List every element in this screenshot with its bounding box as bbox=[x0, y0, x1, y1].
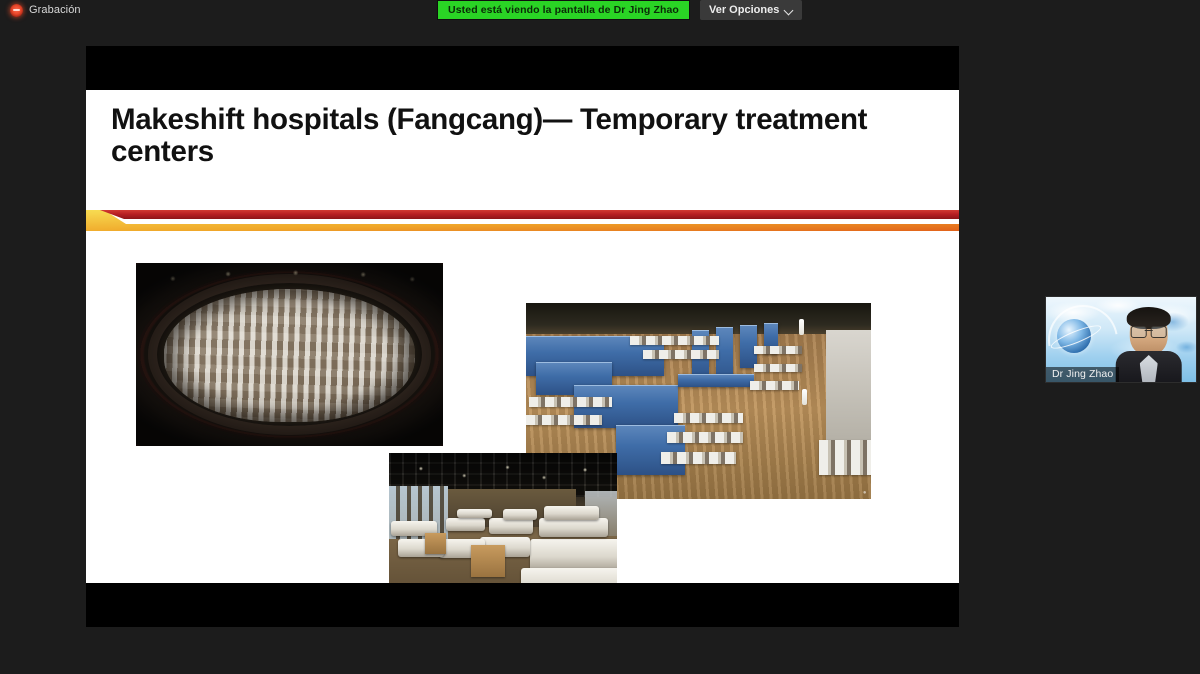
hall-bed bbox=[489, 518, 532, 534]
hall-bed bbox=[446, 518, 485, 531]
hall-image bbox=[389, 453, 617, 583]
medical-worker bbox=[799, 319, 804, 335]
hall-bed bbox=[457, 509, 491, 518]
medical-worker bbox=[802, 389, 807, 405]
view-options-label: Ver Opciones bbox=[709, 4, 779, 16]
zoom-top-bar: Grabación Usted está viendo la pantalla … bbox=[0, 0, 1200, 20]
hall-bed bbox=[530, 539, 617, 572]
bed-row bbox=[667, 432, 743, 443]
supply-pile bbox=[819, 440, 871, 475]
hall-bed bbox=[544, 506, 599, 519]
photo-stadium-hospital bbox=[136, 263, 443, 446]
bed-row bbox=[630, 336, 720, 345]
screen-share-banner: Usted está viendo la pantalla de Dr Jing… bbox=[437, 0, 690, 20]
bed-row bbox=[661, 452, 737, 464]
hall-bed bbox=[521, 568, 617, 583]
stadium-image bbox=[136, 263, 443, 446]
hall-desk bbox=[471, 545, 505, 578]
bed-row bbox=[674, 413, 743, 423]
slide-title: Makeshift hospitals (Fangcang)— Temporar… bbox=[111, 104, 901, 168]
glasses-bridge bbox=[1145, 330, 1153, 331]
image-watermark: ● bbox=[863, 490, 867, 496]
recording-label: Grabación bbox=[29, 4, 81, 16]
bed-row bbox=[750, 381, 798, 390]
bed-row bbox=[526, 415, 602, 426]
bed-row bbox=[754, 346, 802, 354]
hall-bed bbox=[539, 518, 607, 537]
slide-accent-bar bbox=[86, 208, 959, 232]
bed-row bbox=[754, 364, 802, 372]
bed-row bbox=[643, 350, 719, 359]
screen-share-banner-label: Usted está viendo la pantalla de Dr Jing… bbox=[448, 4, 679, 16]
participant-name-label: Dr Jing Zhao bbox=[1046, 367, 1119, 382]
hall-desk bbox=[425, 533, 446, 554]
globe-icon bbox=[1057, 319, 1091, 353]
view-options-button[interactable]: Ver Opciones bbox=[700, 0, 802, 20]
recording-icon bbox=[10, 4, 23, 17]
shared-screen-stage[interactable]: Makeshift hospitals (Fangcang)— Temporar… bbox=[86, 46, 959, 627]
hall-bed bbox=[503, 509, 537, 519]
photo-hall-hospital bbox=[389, 453, 617, 583]
presentation-slide: Makeshift hospitals (Fangcang)— Temporar… bbox=[86, 90, 959, 583]
bed-row bbox=[529, 397, 612, 407]
participant-avatar bbox=[1116, 311, 1182, 383]
participant-video-thumbnail[interactable]: Dr Jing Zhao bbox=[1045, 296, 1197, 383]
blue-partition bbox=[678, 374, 754, 388]
stadium-vignette bbox=[136, 263, 443, 446]
recording-indicator: Grabación bbox=[10, 2, 81, 18]
convention-right-wall bbox=[826, 330, 871, 440]
chevron-down-icon bbox=[785, 6, 793, 14]
